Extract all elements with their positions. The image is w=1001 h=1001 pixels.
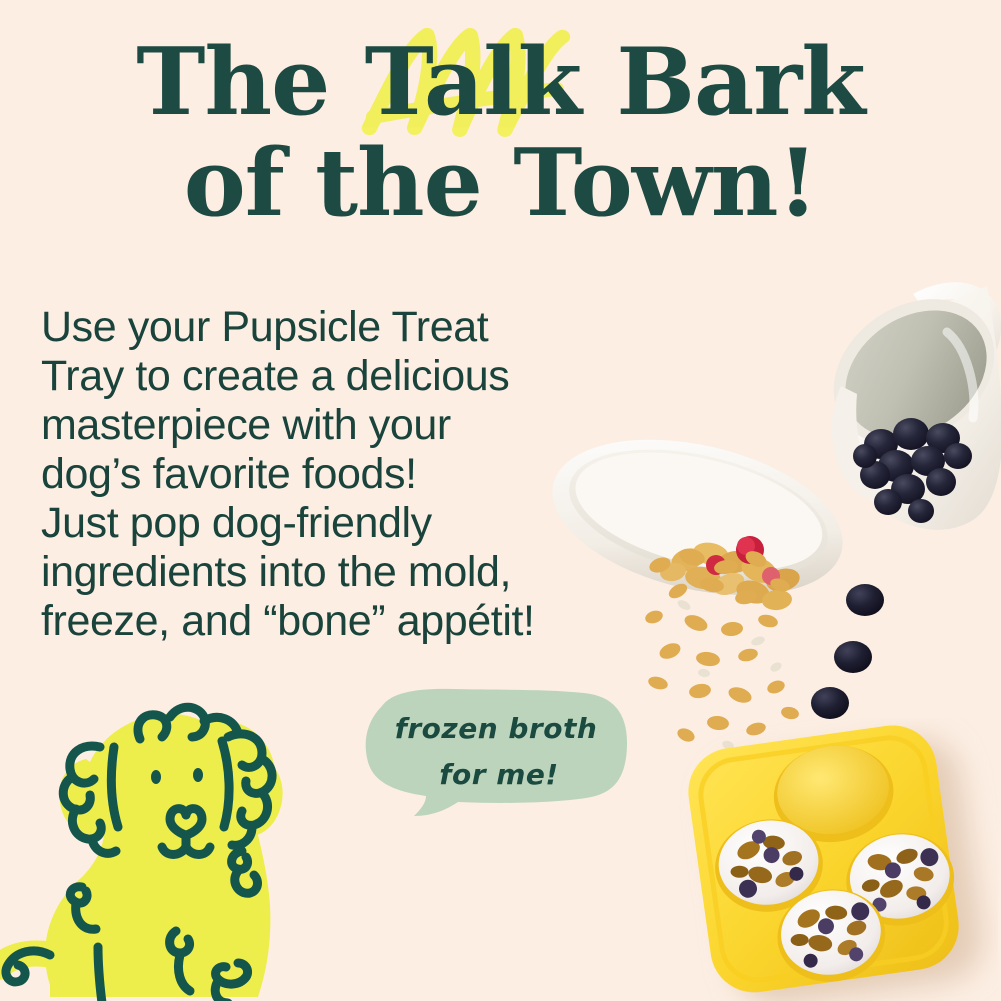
headline-struck-word: Talk [365, 27, 581, 136]
headline-suffix: Bark [585, 27, 865, 136]
body-line: freeze, and “bone” appétit! [41, 597, 601, 646]
speech-bubble: frozen broth for me! [362, 688, 630, 816]
promo-graphic: frozen broth for me! The Talk Bark of th… [0, 0, 1001, 1001]
body-line: ingredients into the mold, [41, 548, 601, 597]
body-line: Use your Pupsicle Treat [41, 303, 601, 352]
body-copy: Use your Pupsicle Treat Tray to create a… [41, 303, 601, 646]
body-line: dog’s favorite foods! [41, 450, 601, 499]
body-line: Tray to create a delicious [41, 352, 601, 401]
headline-prefix: The [136, 27, 360, 136]
struck-word-wrapper: Talk [361, 36, 585, 127]
pupsicle-treat-tray-illustration [678, 718, 998, 1001]
doodle-dog-illustration [0, 655, 340, 1001]
page-title: The Talk Bark of the Town! [0, 36, 1001, 228]
body-line: masterpiece with your [41, 401, 601, 450]
speech-bubble-text: frozen broth for me! [362, 688, 630, 816]
speech-bubble-line-1: frozen broth [395, 706, 598, 752]
headline-line-1: The Talk Bark [0, 36, 1001, 127]
body-line: Just pop dog-friendly [41, 499, 601, 548]
speech-bubble-line-2: for me! [433, 752, 558, 798]
headline-line-2: of the Town! [0, 137, 1001, 228]
